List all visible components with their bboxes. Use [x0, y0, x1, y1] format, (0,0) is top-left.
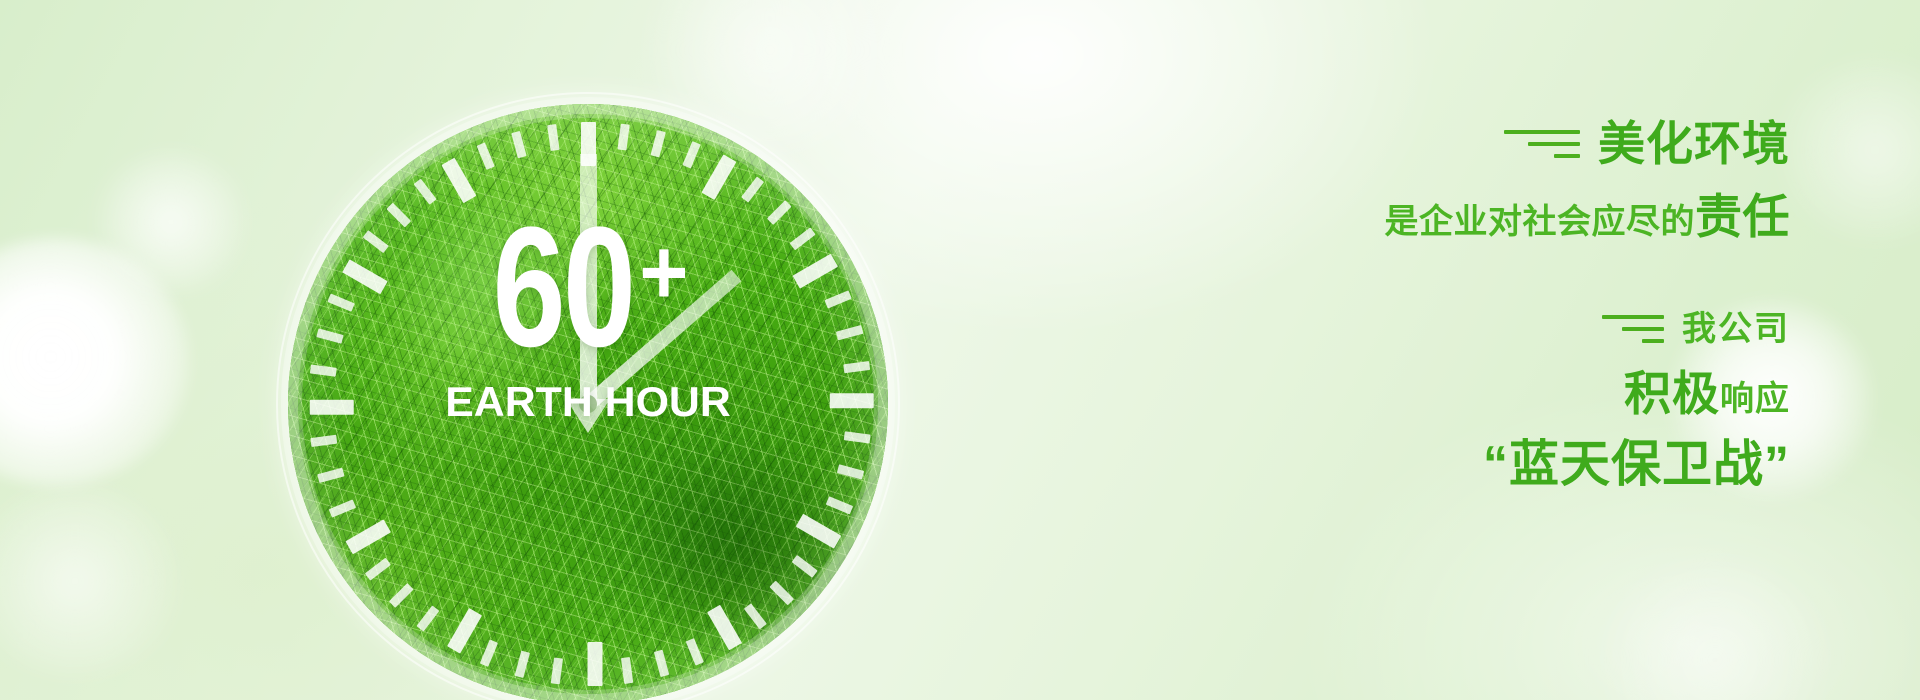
clock-tick-bar	[830, 393, 874, 408]
deco-lines-icon-2	[1588, 315, 1664, 343]
subline-corporate-responsibility: 是企业对社会应尽的责任	[1090, 193, 1790, 240]
headline-our-company: 我公司	[1682, 312, 1790, 346]
headline-row-2: 我公司	[1090, 312, 1790, 346]
bokeh-light-left-3	[0, 486, 180, 676]
clock-tick-major	[588, 642, 596, 700]
earth-hour-lockup: 60+ EARTH HOUR	[448, 224, 728, 426]
line2-emphasis-text: 积极	[1624, 367, 1720, 420]
headline-beautify-environment: 美化环境	[1598, 120, 1790, 167]
earth-hour-subtitle: EARTH HOUR	[445, 378, 731, 426]
earth-hour-clock: 60+ EARTH HOUR	[288, 104, 888, 700]
earth-hour-plus-sign: +	[639, 219, 688, 326]
bokeh-light-right-2	[1780, 60, 1920, 240]
clock-tick-major	[292, 400, 354, 408]
earth-hour-number: 60	[492, 211, 633, 361]
clock-tick-bar	[588, 642, 603, 686]
marketing-copy: 美化环境 是企业对社会应尽的责任 我公司 积极响应 “蓝天保卫战”	[1090, 120, 1790, 489]
deco-lines-icon-1	[1504, 130, 1580, 158]
headline-row-1: 美化环境	[1090, 120, 1790, 167]
line-blue-sky-defense: “蓝天保卫战”	[1090, 439, 1790, 489]
copy-block-environment: 美化环境 是企业对社会应尽的责任	[1090, 120, 1790, 240]
copy-block-blue-sky: 我公司 积极响应 “蓝天保卫战”	[1090, 312, 1790, 489]
bokeh-light-right-3	[1600, 560, 1830, 700]
clock-tick-major	[830, 400, 888, 408]
earth-hour-banner: 60+ EARTH HOUR 美化环境 是企业对社会应尽的责任 我公司	[0, 0, 1920, 700]
clock-tick-bar	[310, 400, 354, 415]
bokeh-light-left-2	[96, 152, 246, 292]
subline-prefix-text: 是企业对社会应尽的	[1385, 203, 1696, 241]
bokeh-light-left-1	[0, 238, 190, 486]
line-active-response: 积极响应	[1090, 370, 1790, 417]
subline-emphasis-text: 责任	[1695, 190, 1790, 243]
line2-rest-text: 响应	[1720, 380, 1790, 418]
